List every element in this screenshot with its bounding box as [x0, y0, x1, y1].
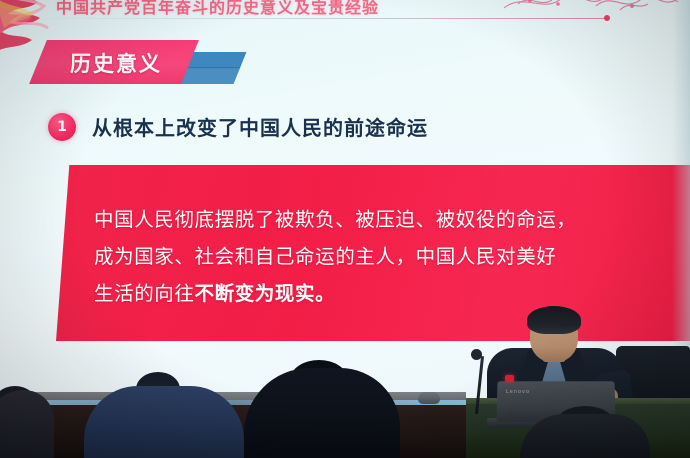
audience-desk-divider [126, 398, 150, 458]
banner-label: 历史意义 [70, 48, 210, 78]
audience-member-foreground-right-head [556, 406, 614, 440]
callout-line-3: 生活的向往 [94, 282, 195, 305]
speaker-table-front [436, 404, 690, 458]
callout-line-1: 中国人民彻底摆脱了被欺负、被压迫、被奴役的命运， [94, 208, 576, 231]
slide-headline: 从根本上改变了中国人民的前途命运 [92, 112, 428, 141]
callout-line-3-emphasis: 不断变为现实。 [195, 282, 336, 305]
projection-screen: 中国共产党百年奋斗的历史意义及宝贵经验 历史意义 1 [0, 0, 690, 400]
number-badge-icon: 1 [48, 113, 76, 141]
seating-row-highlight [0, 400, 466, 405]
callout-box: 中国人民彻底摆脱了被欺负、被压迫、被奴役的命运， 成为国家、社会和自己命运的主人… [56, 165, 690, 341]
audience-member-left [0, 390, 54, 458]
wall-lower [0, 400, 690, 458]
slide-header-title: 中国共产党百年奋斗的历史意义及宝贵经验 [56, 0, 379, 18]
audience-desk [0, 405, 466, 458]
screenshot-root: 中国共产党百年奋斗的历史意义及宝贵经验 历史意义 1 [0, 0, 690, 458]
callout-line-2: 成为国家、社会和自己命运的主人，中国人民对美好 [94, 245, 556, 268]
floral-flourish-icon [500, 0, 690, 24]
callout-text: 中国人民彻底摆脱了被欺负、被压迫、被奴役的命运， 成为国家、社会和自己命运的主人… [94, 201, 640, 312]
audience-member-foreground-right [520, 414, 650, 458]
laptop-base [487, 418, 627, 428]
